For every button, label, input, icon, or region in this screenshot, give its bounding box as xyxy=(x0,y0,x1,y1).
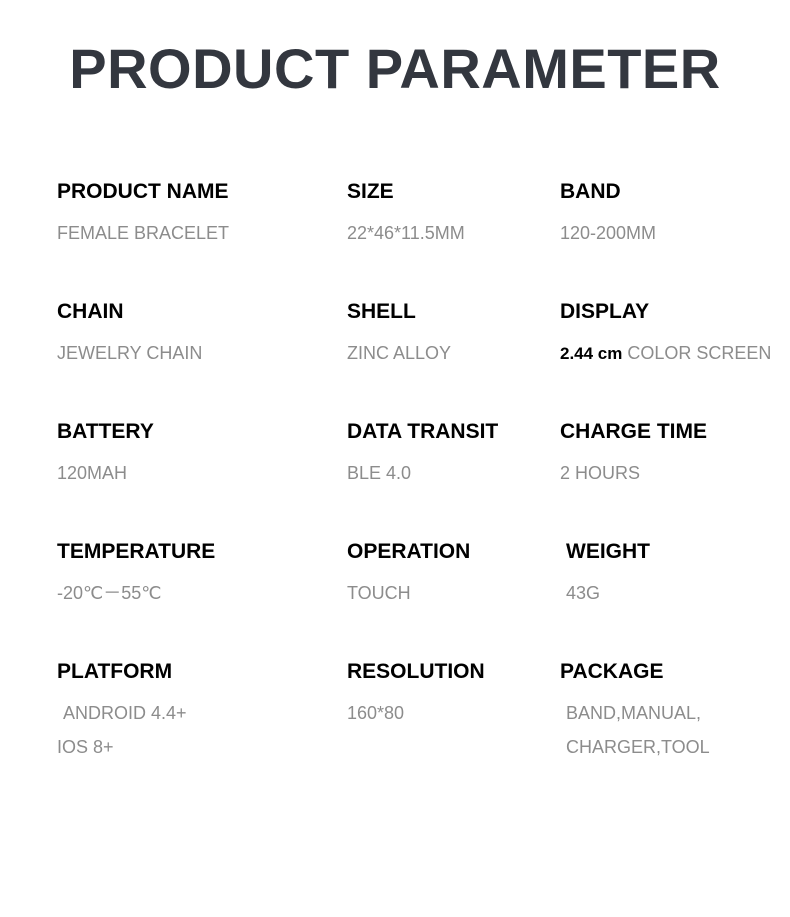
spec-value: JEWELRY CHAIN xyxy=(57,342,202,364)
spec-cell-shell: SHELL ZINC ALLOY xyxy=(347,300,451,364)
spec-value: 120-200MM xyxy=(560,222,656,244)
spec-value: BLE 4.0 xyxy=(347,462,498,484)
spec-value-emphasis: 2.44 cm xyxy=(560,344,622,363)
spec-cell-size: SIZE 22*46*11.5MM xyxy=(347,180,465,244)
spec-value: TOUCH xyxy=(347,582,470,604)
spec-value: 22*46*11.5MM xyxy=(347,222,465,244)
spec-cell-package: PACKAGE BAND,MANUAL, CHARGER,TOOL xyxy=(560,660,710,758)
spec-value: ANDROID 4.4+ IOS 8+ xyxy=(57,702,187,758)
spec-label: WEIGHT xyxy=(566,540,650,564)
spec-cell-data-transit: DATA TRANSIT BLE 4.0 xyxy=(347,420,498,484)
spec-row: TEMPERATURE -20℃－55℃ OPERATION TOUCH WEI… xyxy=(0,540,790,660)
spec-label: SIZE xyxy=(347,180,465,204)
spec-row: BATTERY 120MAH DATA TRANSIT BLE 4.0 CHAR… xyxy=(0,420,790,540)
spec-value-line: BAND,MANUAL, xyxy=(560,702,710,724)
spec-label: BAND xyxy=(560,180,656,204)
spec-value: 2 HOURS xyxy=(560,462,707,484)
spec-label: RESOLUTION xyxy=(347,660,485,684)
spec-value: BAND,MANUAL, CHARGER,TOOL xyxy=(560,702,710,758)
spec-cell-battery: BATTERY 120MAH xyxy=(57,420,154,484)
spec-label: CHARGE TIME xyxy=(560,420,707,444)
spec-value: 2.44 cm COLOR SCREEN xyxy=(560,342,771,365)
spec-value: 43G xyxy=(566,582,650,604)
spec-label: DISPLAY xyxy=(560,300,771,324)
spec-label: PRODUCT NAME xyxy=(57,180,229,204)
spec-cell-operation: OPERATION TOUCH xyxy=(347,540,470,604)
spec-grid: PRODUCT NAME FEMALE BRACELET SIZE 22*46*… xyxy=(0,180,790,780)
spec-row: PLATFORM ANDROID 4.4+ IOS 8+ RESOLUTION … xyxy=(0,660,790,780)
spec-cell-chain: CHAIN JEWELRY CHAIN xyxy=(57,300,202,364)
spec-cell-weight: WEIGHT 43G xyxy=(566,540,650,604)
spec-value-line: CHARGER,TOOL xyxy=(560,736,710,758)
spec-row: CHAIN JEWELRY CHAIN SHELL ZINC ALLOY DIS… xyxy=(0,300,790,420)
spec-label: CHAIN xyxy=(57,300,202,324)
spec-label: DATA TRANSIT xyxy=(347,420,498,444)
spec-value-remainder: COLOR SCREEN xyxy=(627,343,771,363)
spec-label: PACKAGE xyxy=(560,660,710,684)
spec-cell-display: DISPLAY 2.44 cm COLOR SCREEN xyxy=(560,300,771,365)
spec-label: TEMPERATURE xyxy=(57,540,215,564)
spec-cell-charge-time: CHARGE TIME 2 HOURS xyxy=(560,420,707,484)
spec-value-line: ANDROID 4.4+ xyxy=(57,702,187,724)
spec-label: BATTERY xyxy=(57,420,154,444)
spec-label: PLATFORM xyxy=(57,660,187,684)
spec-cell-product-name: PRODUCT NAME FEMALE BRACELET xyxy=(57,180,229,244)
spec-cell-resolution: RESOLUTION 160*80 xyxy=(347,660,485,724)
spec-cell-temperature: TEMPERATURE -20℃－55℃ xyxy=(57,540,215,604)
spec-value: -20℃－55℃ xyxy=(57,582,215,604)
spec-cell-band: BAND 120-200MM xyxy=(560,180,656,244)
product-parameter-page: PRODUCT PARAMETER PRODUCT NAME FEMALE BR… xyxy=(0,0,790,917)
page-title: PRODUCT PARAMETER xyxy=(0,38,790,100)
spec-value-line: IOS 8+ xyxy=(57,736,187,758)
spec-cell-platform: PLATFORM ANDROID 4.4+ IOS 8+ xyxy=(57,660,187,758)
spec-value: ZINC ALLOY xyxy=(347,342,451,364)
spec-row: PRODUCT NAME FEMALE BRACELET SIZE 22*46*… xyxy=(0,180,790,300)
spec-value: 160*80 xyxy=(347,702,485,724)
spec-value: 120MAH xyxy=(57,462,154,484)
spec-value: FEMALE BRACELET xyxy=(57,222,229,244)
spec-label: OPERATION xyxy=(347,540,470,564)
spec-label: SHELL xyxy=(347,300,451,324)
